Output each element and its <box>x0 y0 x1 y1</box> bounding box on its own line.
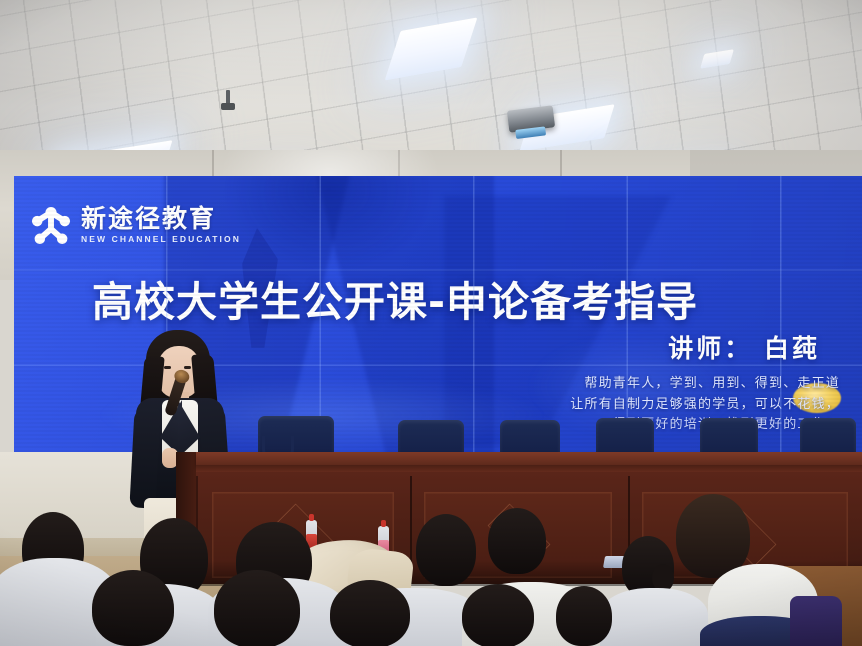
ceiling-mount <box>221 103 235 110</box>
audience-head <box>214 570 300 646</box>
brand-name-cn: 新途径教育 <box>81 206 241 231</box>
backpack <box>790 596 842 646</box>
brand-logo-text: 新途径教育 NEW CHANNEL EDUCATION <box>81 206 241 244</box>
lecturer-eye <box>184 366 191 369</box>
podium-countertop <box>196 452 862 465</box>
audience-head <box>416 514 476 586</box>
audience-shoulders <box>600 588 708 646</box>
audience-head <box>556 586 612 646</box>
lecturer-eye <box>164 366 171 369</box>
lecture-hall-photo: 新途径教育 NEW CHANNEL EDUCATION 高校大学生公开课-申论备… <box>0 0 862 646</box>
audience <box>0 492 862 646</box>
audience-head <box>488 508 546 574</box>
podium-lip <box>196 465 862 472</box>
new-channel-figure-mark <box>30 204 72 246</box>
brand-logo: 新途径教育 NEW CHANNEL EDUCATION <box>30 204 241 246</box>
brand-name-en: NEW CHANNEL EDUCATION <box>81 235 241 244</box>
audience-head <box>330 580 410 646</box>
audience-head <box>462 584 534 646</box>
audience-head <box>676 494 750 578</box>
audience-head <box>92 570 174 646</box>
slide-title: 高校大学生公开课-申论备考指导 <box>92 268 852 328</box>
